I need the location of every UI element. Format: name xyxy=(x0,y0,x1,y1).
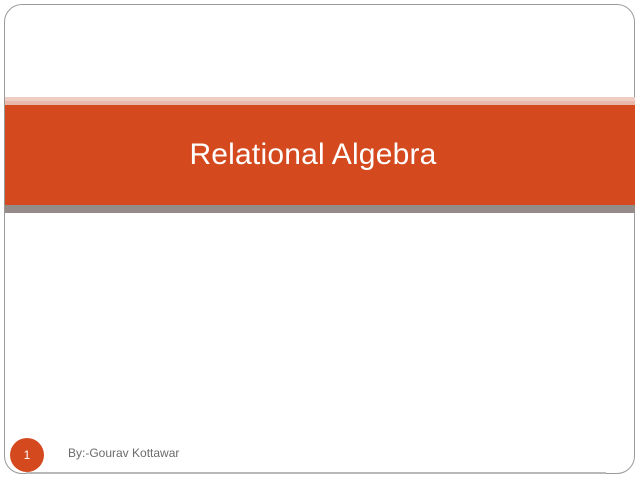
accent-strip-bottom xyxy=(5,205,635,213)
title-bar: Relational Algebra xyxy=(5,105,635,205)
slide-footer: 1 By:-Gourav Kottawar xyxy=(0,436,640,480)
slide-number-badge: 1 xyxy=(10,438,44,472)
title-banner: Relational Algebra xyxy=(5,97,635,213)
footer-divider xyxy=(26,472,606,474)
presentation-slide: Relational Algebra 1 By:-Gourav Kottawar xyxy=(0,0,640,480)
slide-title: Relational Algebra xyxy=(5,105,635,205)
footer-author-text: By:-Gourav Kottawar xyxy=(68,446,179,460)
slide-body-content xyxy=(30,225,610,425)
